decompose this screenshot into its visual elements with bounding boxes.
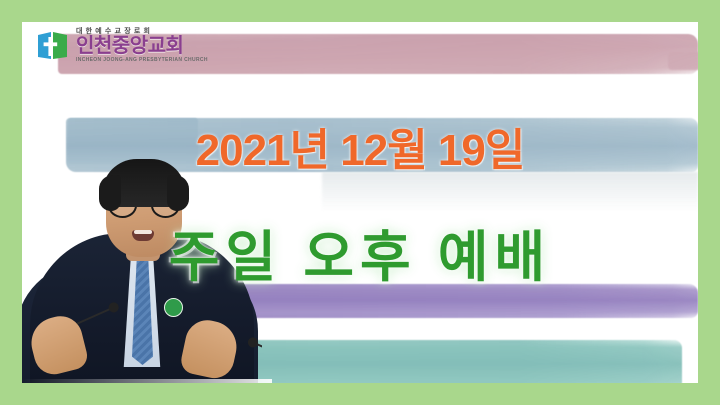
lapel-pin xyxy=(164,298,183,317)
denomination-label: 대한예수교장로회 xyxy=(76,28,208,35)
church-logo-text: 대한예수교장로회 인천중앙교회 INCHEON JOONG-ANG PRESBY… xyxy=(76,28,208,63)
video-thumbnail: 대한예수교장로회 인천중앙교회 INCHEON JOONG-ANG PRESBY… xyxy=(0,0,720,405)
church-name-english: INCHEON JOONG-ANG PRESBYTERIAN CHURCH xyxy=(76,58,208,63)
service-date-title: 2021년 12월 19일 xyxy=(22,114,698,178)
photo-edge-fade xyxy=(22,379,272,383)
content-card: 대한예수교장로회 인천중앙교회 INCHEON JOONG-ANG PRESBY… xyxy=(22,22,698,383)
church-name-korean: 인천중앙교회 xyxy=(76,36,208,56)
watercolor-wash xyxy=(322,172,698,212)
church-logo: 대한예수교장로회 인천중앙교회 INCHEON JOONG-ANG PRESBY… xyxy=(36,28,208,63)
service-name-title: 주일 오후 예배 xyxy=(22,212,698,292)
open-bible-cross-icon xyxy=(36,30,70,62)
